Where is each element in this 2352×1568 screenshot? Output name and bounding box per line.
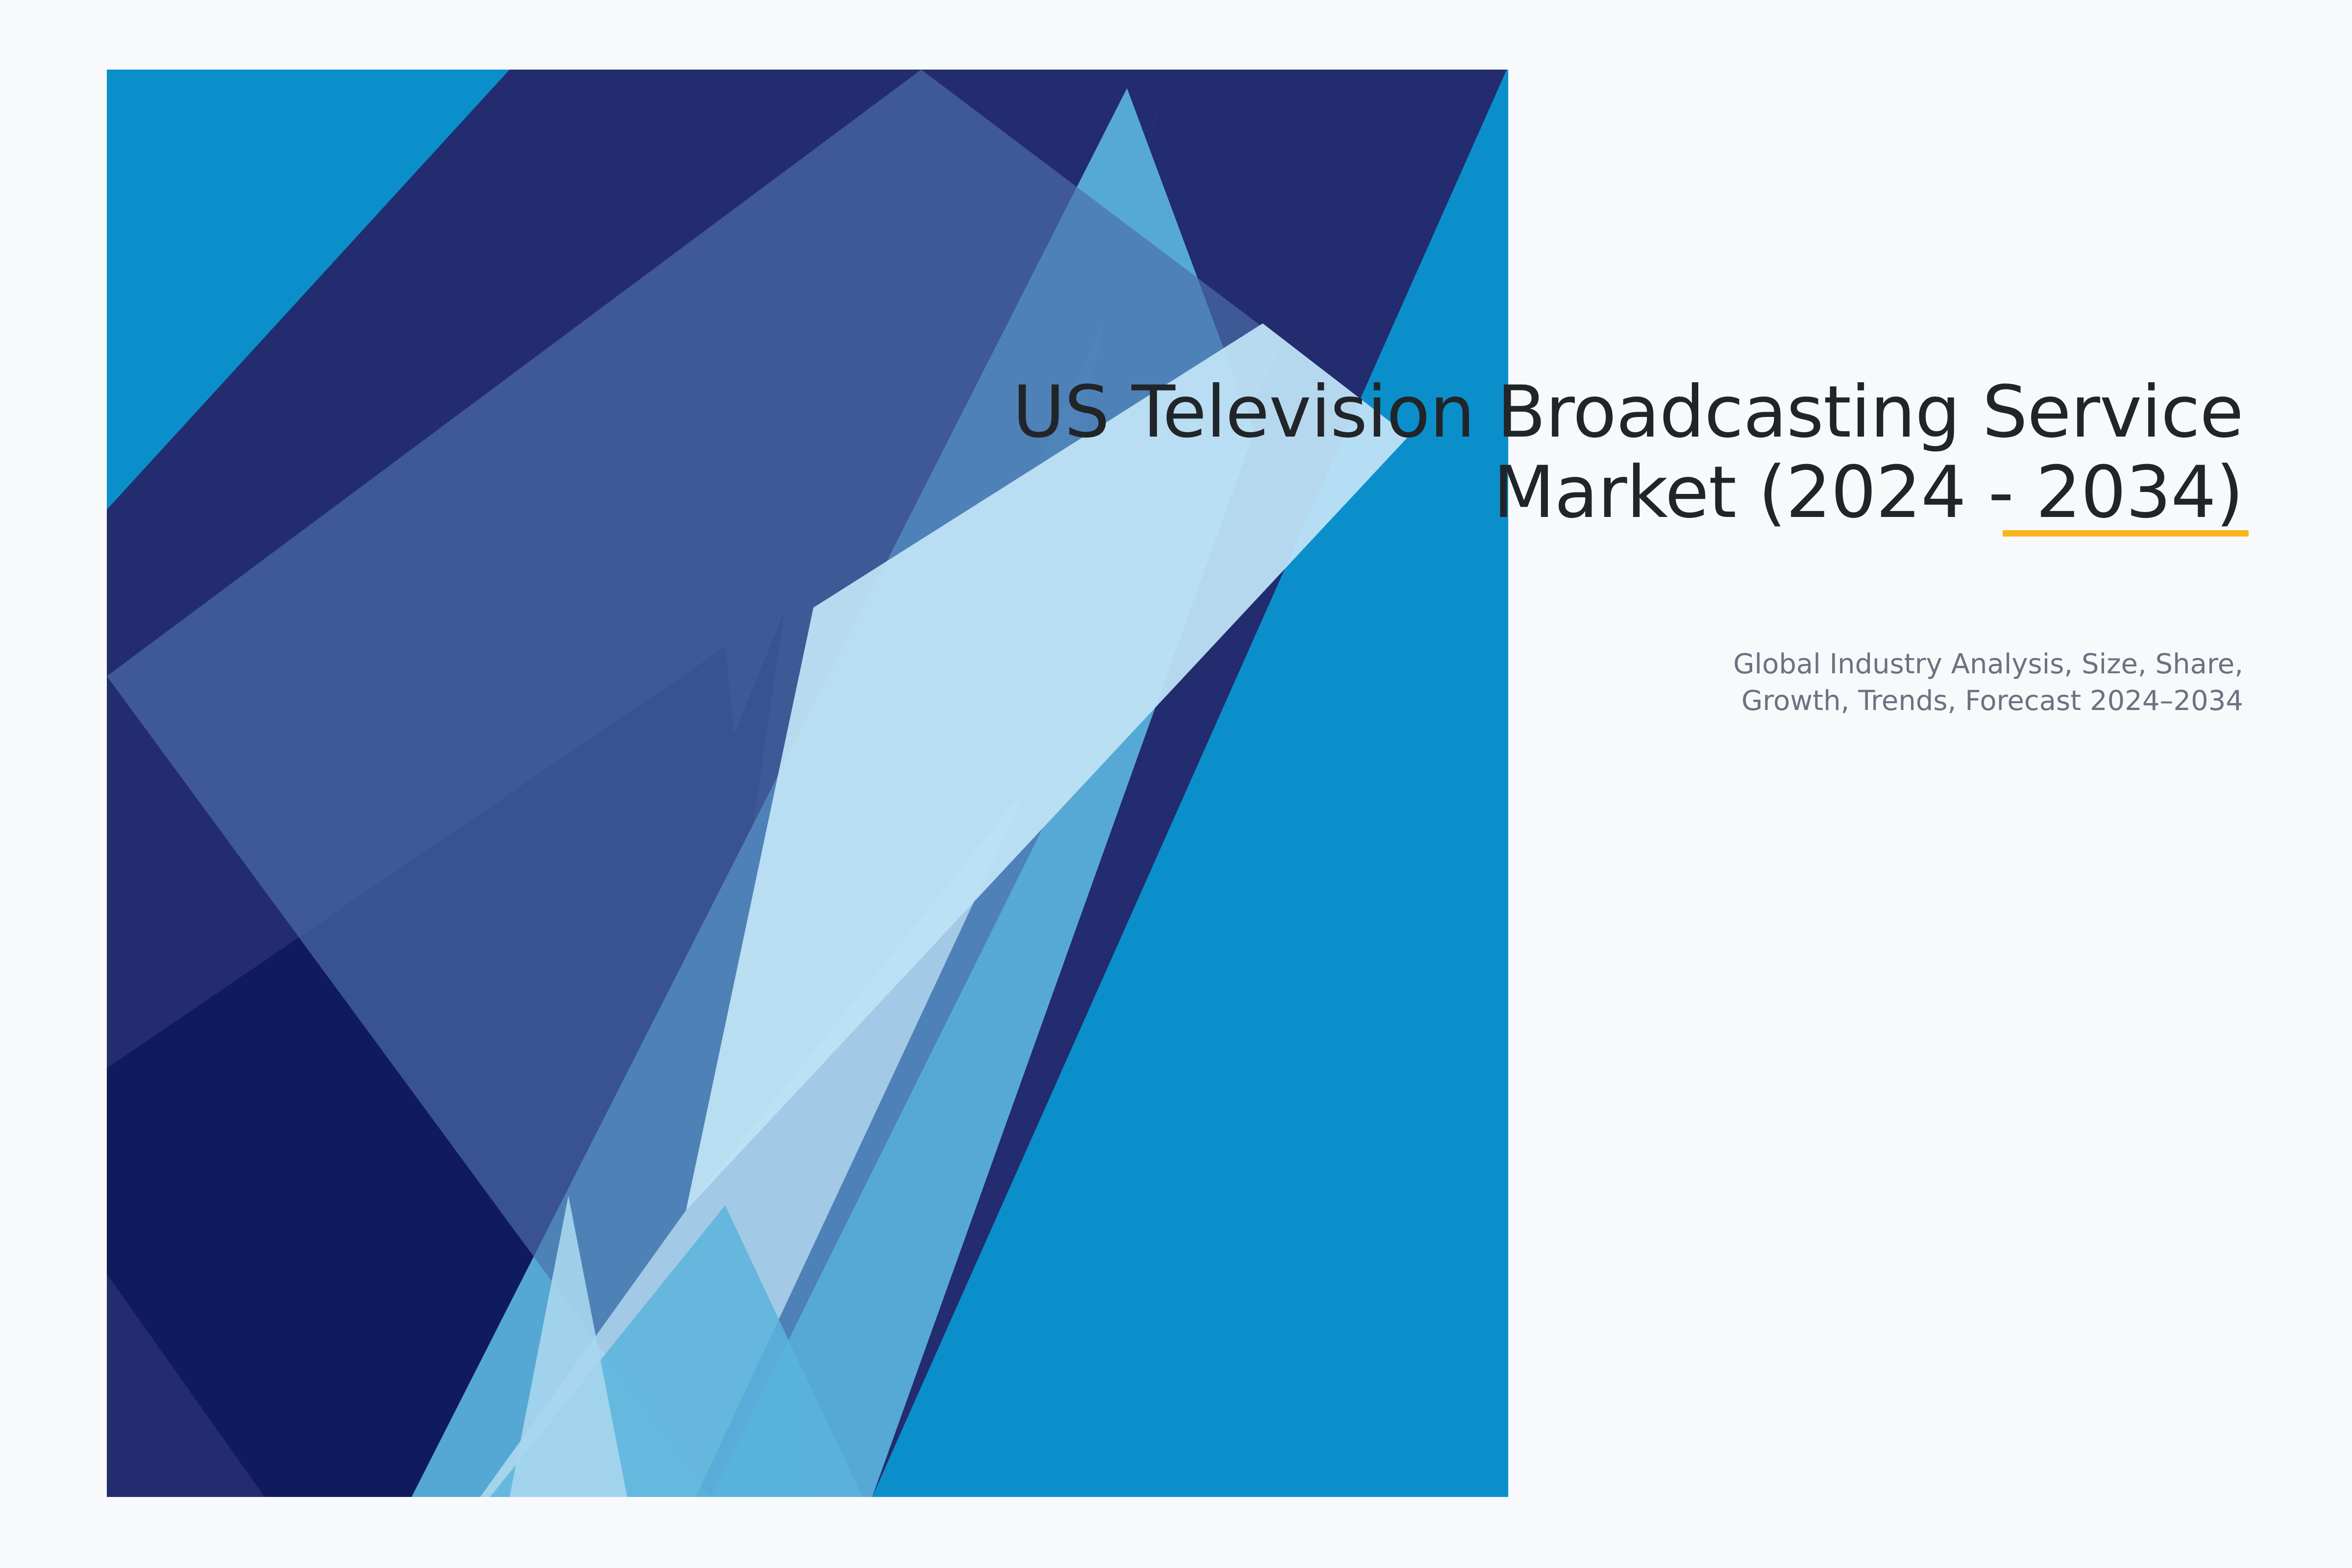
report-cover-page: US Television Broadcasting Service Marke… — [0, 0, 2352, 1568]
abstract-polygon-artwork — [0, 0, 2352, 1568]
page-subtitle: Global Industry Analysis, Size, Share, G… — [1312, 646, 2243, 719]
page-title: US Television Broadcasting Service Marke… — [773, 372, 2243, 533]
title-block: US Television Broadcasting Service Marke… — [773, 372, 2243, 533]
